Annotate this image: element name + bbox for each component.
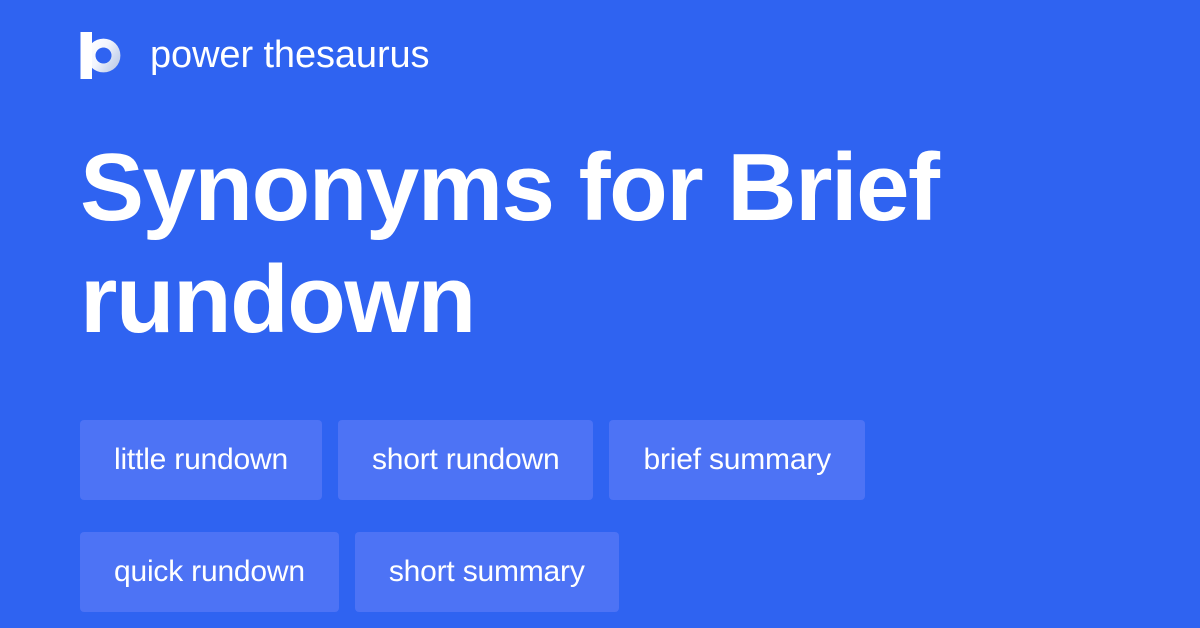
synonym-chip[interactable]: brief summary [609, 420, 864, 500]
synonym-chip[interactable]: quick rundown [80, 532, 339, 612]
page-title: Synonyms for Brief rundown [80, 132, 980, 356]
brand-logo-link[interactable]: power thesaurus [80, 29, 429, 81]
synonym-chip[interactable]: short summary [355, 532, 619, 612]
synonym-chip[interactable]: little rundown [80, 420, 322, 500]
page-root: power thesaurus Synonyms for Brief rundo… [0, 0, 1200, 628]
synonym-chip-list: little rundown short rundown brief summa… [80, 420, 1080, 612]
power-thesaurus-b-logo-icon [80, 32, 127, 79]
brand-name: power thesaurus [150, 36, 429, 74]
synonym-chip[interactable]: short rundown [338, 420, 594, 500]
